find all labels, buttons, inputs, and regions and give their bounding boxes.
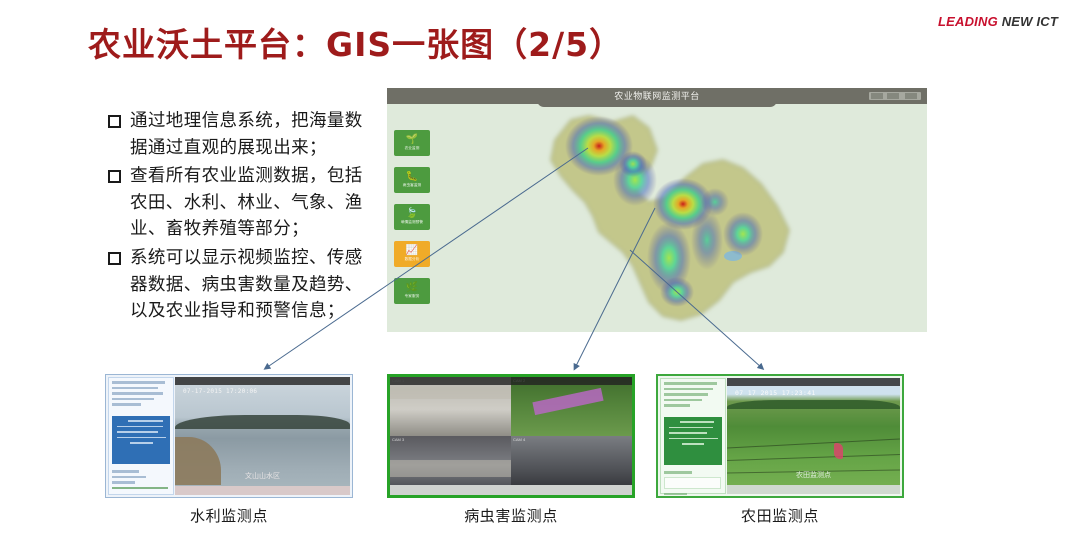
placeholder-row <box>664 493 687 496</box>
thumbnail-caption: 病虫害监测点 <box>387 505 635 526</box>
cctv-toolbar[interactable] <box>390 485 632 495</box>
chart-line <box>117 431 158 433</box>
bullet-marker-icon <box>108 115 121 128</box>
chart-line <box>128 420 163 422</box>
heatmap-overlay <box>537 106 827 332</box>
cctv-cell-label: CAM 4 <box>513 437 525 442</box>
video-watermark: 农田监测点 <box>727 470 900 480</box>
sidebar-item-data-analysis[interactable]: 📈 数据分析 <box>394 241 430 267</box>
sidebar-item-label: 农业监测 <box>405 146 420 151</box>
brand-logo-newict: NEW ICT <box>1002 14 1058 29</box>
chart-line <box>117 437 166 439</box>
gis-map-panel: 农业物联网监测平台 <box>387 88 927 332</box>
placeholder-row <box>112 392 163 395</box>
scene-object <box>532 388 603 415</box>
close-icon[interactable] <box>905 93 917 99</box>
hill-silhouette <box>175 415 350 429</box>
video-topbar <box>175 377 350 385</box>
video-bottombar <box>727 485 900 494</box>
placeholder-row <box>112 398 154 401</box>
chart-line <box>669 438 718 440</box>
thumb-side-rows <box>664 382 722 410</box>
chart-line <box>130 442 153 444</box>
expert-icon: 🌿 <box>406 283 418 293</box>
brand-logo-leading: LEADING <box>938 14 998 29</box>
thumb-side-rows <box>112 381 170 409</box>
sidebar-item-label: 墒情监测预警 <box>401 220 423 225</box>
leaf-icon: 🍃 <box>406 209 418 219</box>
chart-line <box>682 443 704 445</box>
cctv-topbar <box>390 377 632 385</box>
cctv-cell-2[interactable]: CAM 2 <box>511 377 632 436</box>
map-sidebar[interactable]: 🌱 农业监测 🐛 病虫害监测 🍃 墒情监测预警 📈 数据分析 🌿 <box>394 130 430 315</box>
chart-line <box>680 421 714 423</box>
sidebar-item-expert-service[interactable]: 🌿 专家服务 <box>394 278 430 304</box>
placeholder-row <box>112 470 139 473</box>
bullet-list: 通过地理信息系统，把海量数据通过直观的展现出来； 查看所有农业监测数据，包括农田… <box>108 108 376 327</box>
thumb-side-rows-lower <box>112 470 170 492</box>
thumb-side-panel <box>108 377 174 495</box>
scene-strip <box>390 387 511 399</box>
brand-logo: LEADING NEW ICT <box>938 14 1058 29</box>
list-item: 查看所有农业监测数据，包括农田、水利、林业、气象、渔业、畜牧养殖等部分； <box>108 163 376 243</box>
field-wire <box>727 438 900 448</box>
list-item-text: 查看所有农业监测数据，包括农田、水利、林业、气象、渔业、畜牧养殖等部分； <box>130 163 376 243</box>
cctv-cell-label: CAM 3 <box>392 437 404 442</box>
maximize-icon[interactable] <box>887 93 899 99</box>
bug-icon: 🐛 <box>406 172 418 182</box>
window-controls[interactable] <box>869 92 921 100</box>
video-watermark: 文山山水区 <box>175 471 350 481</box>
placeholder-row <box>112 381 165 384</box>
slide-root: LEADING NEW ICT 农业沃土平台：GIS一张图（2/5） 通过地理信… <box>0 0 1076 534</box>
chart-line <box>669 427 713 429</box>
bullet-marker-icon <box>108 170 121 183</box>
thumbnail-pest[interactable]: CAM 1 CAM 2 CAM 3 CAM 4 病虫害监测点 <box>387 374 635 498</box>
sidebar-item-soil-warning[interactable]: 🍃 墒情监测预警 <box>394 204 430 230</box>
placeholder-row <box>112 481 135 484</box>
placeholder-row <box>664 471 692 474</box>
chart-icon: 📈 <box>406 246 418 256</box>
thumbnail-frame: 07-17-2015 17:20:06 文山山水区 <box>105 374 353 498</box>
sidebar-item-label: 数据分析 <box>405 257 420 262</box>
thumb-side-panel <box>660 378 726 494</box>
thumbnail-farmland[interactable]: 07 17 2015 17:23:41 农田监测点 农田监测点 <box>656 374 904 498</box>
bullet-marker-icon <box>108 252 121 265</box>
thumbnail-frame: 07 17 2015 17:23:41 农田监测点 <box>656 374 904 498</box>
video-feed-farmland[interactable]: 07 17 2015 17:23:41 农田监测点 <box>727 378 900 494</box>
thumbnail-caption: 农田监测点 <box>656 505 904 526</box>
sidebar-item-label: 专家服务 <box>405 294 420 299</box>
list-item: 通过地理信息系统，把海量数据通过直观的展现出来； <box>108 108 376 161</box>
thumbnail-caption: 水利监测点 <box>105 505 353 526</box>
placeholder-row <box>112 476 146 479</box>
sprout-icon: 🌱 <box>406 135 418 145</box>
thumb-chart-box <box>664 417 722 465</box>
minimize-icon[interactable] <box>871 93 883 99</box>
list-item-text: 系统可以显示视频监控、传感器数据、病虫害数量及趋势、以及农业指导和预警信息； <box>130 245 376 325</box>
thumb-text-input[interactable] <box>664 477 721 489</box>
placeholder-row <box>664 388 713 391</box>
placeholder-row <box>112 403 141 406</box>
thumb-side-rows-lower <box>664 471 722 498</box>
page-title: 农业沃土平台：GIS一张图（2/5） <box>88 18 623 66</box>
thumbnail-water[interactable]: 07-17-2015 17:20:06 文山山水区 水利监测点 <box>105 374 353 498</box>
video-bottombar <box>175 486 350 495</box>
chart-line <box>117 426 163 428</box>
map-header-bar: 农业物联网监测平台 <box>387 88 927 104</box>
map-canvas[interactable]: 🌱 农业监测 🐛 病虫害监测 🍃 墒情监测预警 📈 数据分析 🌿 <box>387 104 927 332</box>
placeholder-row <box>664 382 717 385</box>
placeholder-row <box>112 387 158 390</box>
sidebar-item-pest-monitor[interactable]: 🐛 病虫害监测 <box>394 167 430 193</box>
scene-strip <box>390 460 511 478</box>
thumbnail-frame: CAM 1 CAM 2 CAM 3 CAM 4 <box>387 374 635 498</box>
cctv-grid[interactable]: CAM 1 CAM 2 CAM 3 CAM 4 <box>390 377 632 495</box>
placeholder-row <box>664 404 690 407</box>
field-marker-flag-icon <box>834 443 843 459</box>
video-timestamp: 07 17 2015 17:23:41 <box>735 389 816 397</box>
video-timestamp: 07-17-2015 17:20:06 <box>183 388 257 395</box>
field-wire <box>727 454 900 461</box>
chart-line <box>669 432 707 434</box>
list-item-text: 通过地理信息系统，把海量数据通过直观的展现出来； <box>130 108 376 161</box>
thumb-chart-box <box>112 416 170 464</box>
treeline-silhouette <box>727 400 900 409</box>
list-item: 系统可以显示视频监控、传感器数据、病虫害数量及趋势、以及农业指导和预警信息； <box>108 245 376 325</box>
placeholder-row <box>664 393 708 396</box>
sidebar-item-agri-monitor[interactable]: 🌱 农业监测 <box>394 130 430 156</box>
map-header-title: 农业物联网监测平台 <box>387 89 927 102</box>
placeholder-row <box>664 399 702 402</box>
cctv-cell-1[interactable]: CAM 1 <box>390 377 511 436</box>
video-topbar <box>727 378 900 386</box>
sidebar-item-label: 病虫害监测 <box>403 183 421 188</box>
placeholder-row <box>112 487 168 490</box>
video-feed-water[interactable]: 07-17-2015 17:20:06 文山山水区 <box>175 377 350 495</box>
